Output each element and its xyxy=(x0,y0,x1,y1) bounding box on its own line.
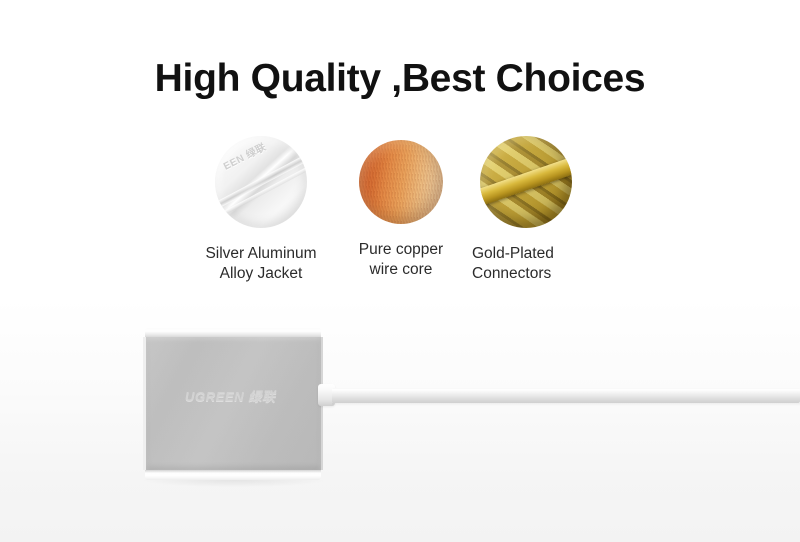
adapter-body-assembly: UGREEN 绿联 xyxy=(143,328,323,480)
feature-item-silver-aluminum-alloy-jacket: EEN 绿联 Silver Aluminum Alloy Jacket xyxy=(186,136,336,284)
cable xyxy=(332,388,800,403)
feature-row: EEN 绿联 Silver Aluminum Alloy Jacket Pure… xyxy=(186,136,606,291)
copper-wire-circle xyxy=(359,140,443,224)
cable-shadow xyxy=(332,403,800,406)
page-title: High Quality ,Best Choices xyxy=(0,58,800,101)
feature-item-gold-plated-connectors: Gold-Plated Connectors xyxy=(464,136,609,284)
banner-page: High Quality ,Best Choices EEN 绿联 Silver… xyxy=(0,0,800,542)
gold-bar-diagonal xyxy=(480,156,572,207)
silver-aluminum-circle: EEN 绿联 xyxy=(215,136,307,228)
feature-label-gold-plated-connectors: Gold-Plated Connectors xyxy=(464,244,609,284)
adapter-top-edge xyxy=(145,328,321,337)
chamfer-highlight-secondary xyxy=(215,163,307,223)
product-photo: UGREEN 绿联 xyxy=(0,300,800,542)
gold-bars-circle xyxy=(480,136,572,228)
adapter-bottom-edge xyxy=(145,470,321,480)
feature-label-pure-copper-wire-core: Pure copper wire core xyxy=(341,240,461,280)
adapter-shadow xyxy=(143,480,325,487)
feature-item-pure-copper-wire-core: Pure copper wire core xyxy=(341,136,461,280)
engraved-logo-text: EEN 绿联 xyxy=(220,138,268,172)
feature-label-silver-aluminum-alloy-jacket: Silver Aluminum Alloy Jacket xyxy=(186,244,336,284)
adapter-brand-logo: UGREEN 绿联 xyxy=(185,386,276,405)
